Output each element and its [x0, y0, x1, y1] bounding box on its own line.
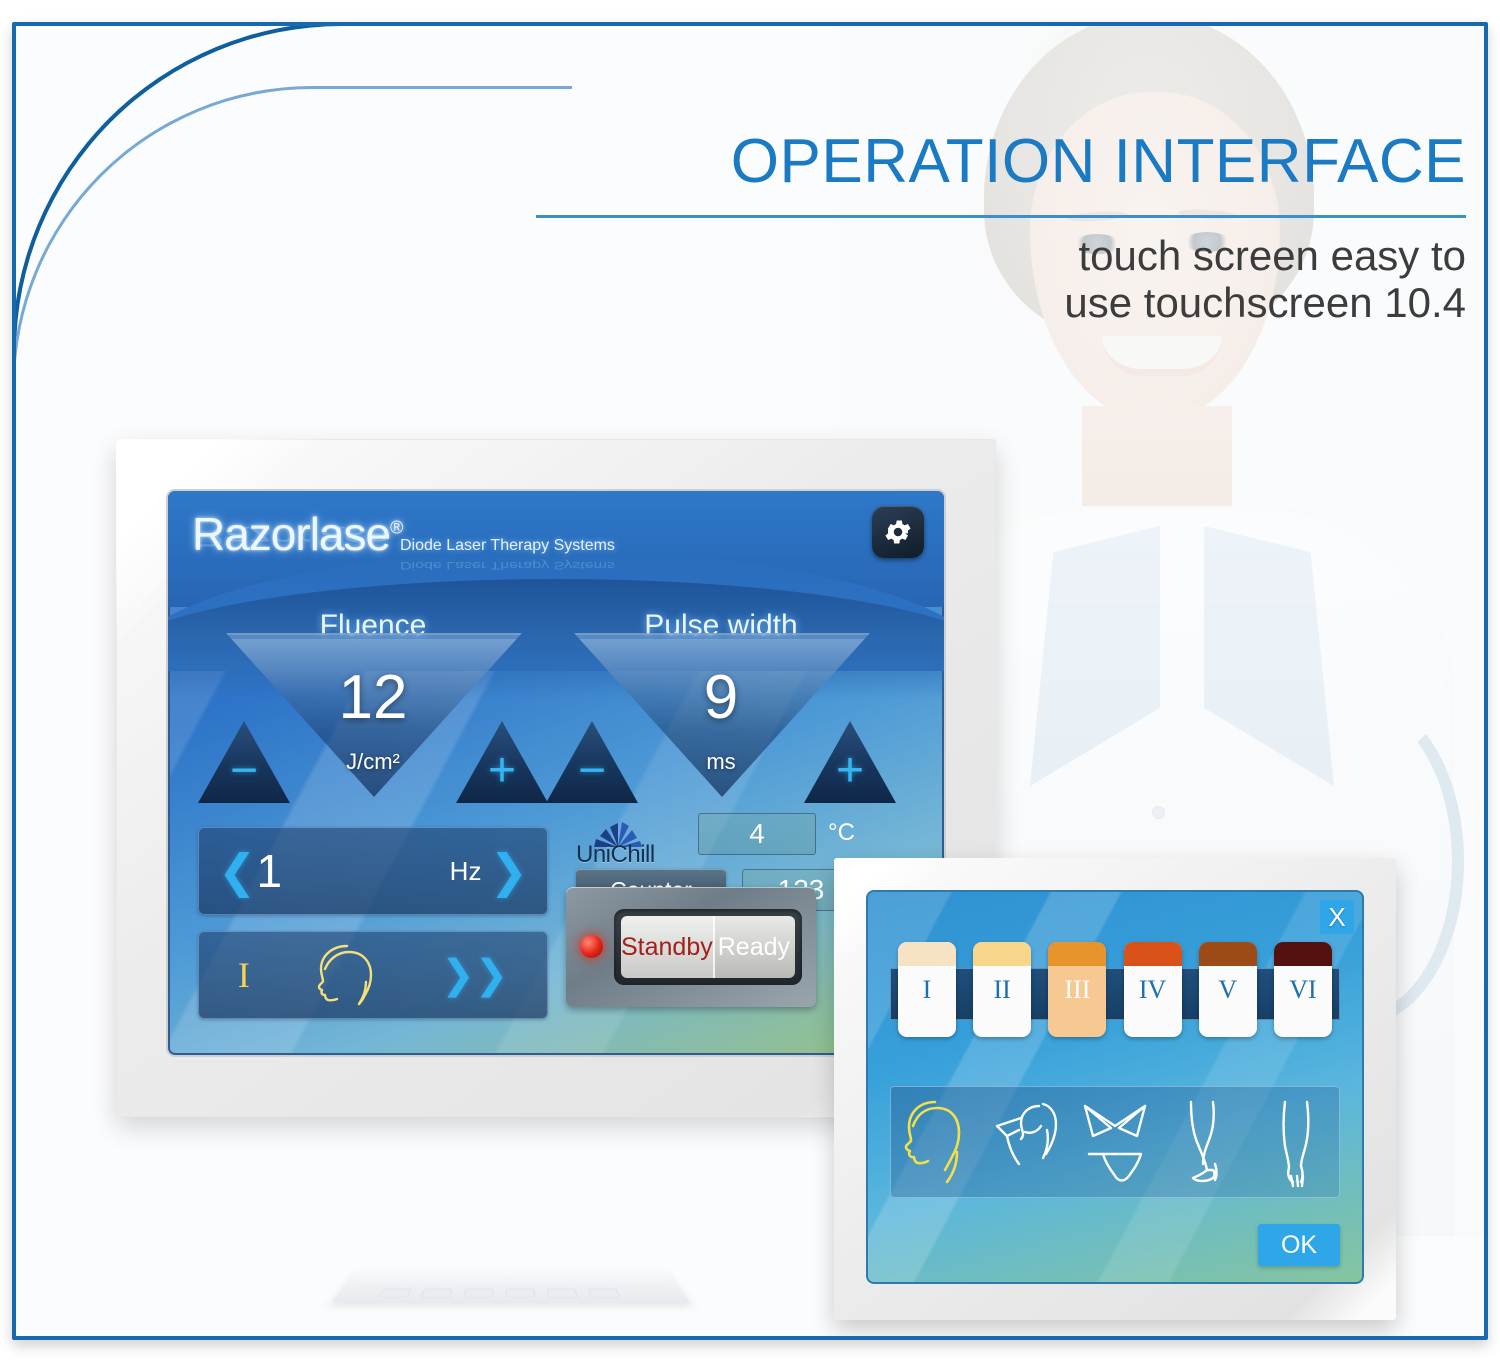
frequency-unit: Hz	[450, 856, 482, 887]
skin-type-swatch	[973, 942, 1031, 966]
frequency-control: ❮ 1 Hz ❯	[198, 827, 548, 915]
skin-type-label: II	[994, 975, 1011, 1005]
skin-type-tab[interactable]: IV	[1124, 942, 1182, 1037]
subtitle-line-2: use touchscreen 10.4	[536, 279, 1466, 326]
skin-type-selector: I II III IV V	[890, 942, 1340, 1042]
status-led	[580, 935, 603, 958]
subtitle-line-1: touch screen easy to	[536, 232, 1466, 279]
fluence-value: 12	[198, 667, 548, 729]
skin-type-swatch	[1124, 942, 1182, 966]
corner-curve-outer	[12, 22, 572, 352]
unichill-temperature-unit: °C	[828, 819, 855, 847]
page-subtitle: touch screen easy to use touchscreen 10.…	[536, 232, 1466, 326]
minus-icon: −	[578, 747, 606, 795]
header-block: OPERATION INTERFACE touch screen easy to…	[536, 131, 1466, 326]
skin-type-label: V	[1218, 975, 1237, 1005]
body-area-selector	[890, 1086, 1340, 1198]
keyboard-blur	[331, 1268, 690, 1303]
leg-icon[interactable]	[1165, 1096, 1245, 1188]
power-switch: Standby Ready	[566, 887, 816, 1007]
face-profile-icon	[301, 942, 389, 1008]
treatment-selector[interactable]: I ❯❯	[198, 931, 548, 1019]
frequency-prev-button[interactable]: ❮	[218, 848, 257, 894]
treatment-next-button[interactable]: ❯❯	[441, 955, 508, 995]
unichill-temperature-field[interactable]: 4	[698, 813, 816, 855]
page-root: OPERATION INTERFACE touch screen easy to…	[0, 0, 1500, 1362]
skin-type-tab[interactable]: VI	[1274, 942, 1332, 1037]
standby-button[interactable]: Standby	[621, 916, 713, 978]
brand-name: Razorlase	[192, 508, 390, 560]
skin-type-tab-selected[interactable]: III	[1048, 942, 1106, 1037]
selected-skin-type: I	[238, 954, 250, 996]
plus-icon: +	[488, 747, 516, 795]
main-screen: Razorlase Diode Laser Therapy Systems Ra…	[168, 491, 944, 1055]
decorative-frame: OPERATION INTERFACE touch screen easy to…	[12, 22, 1488, 1340]
ready-button[interactable]: Ready	[713, 916, 795, 978]
minus-icon: −	[230, 747, 258, 795]
pulse-width-group: Pulse width 9 ms − +	[546, 609, 896, 814]
plus-icon: +	[836, 747, 864, 795]
standby-ready-rocker: Standby Ready	[614, 909, 802, 985]
unichill-brand: UniChill	[576, 841, 655, 869]
skin-type-swatch	[898, 942, 956, 966]
frequency-value: 1	[257, 848, 283, 894]
arm-icon[interactable]	[1255, 1096, 1335, 1188]
skin-type-swatch	[1199, 942, 1257, 966]
title-underline	[536, 215, 1466, 218]
skin-type-label: IV	[1139, 975, 1166, 1005]
treatment-dialog: X I II III IV	[866, 890, 1364, 1284]
skin-type-tab[interactable]: V	[1199, 942, 1257, 1037]
settings-button[interactable]	[872, 506, 924, 558]
bikini-icon[interactable]	[1075, 1096, 1155, 1188]
corner-curve-inner	[12, 86, 572, 386]
skin-type-label: I	[923, 975, 932, 1005]
skin-type-swatch	[1274, 942, 1332, 966]
registered-mark: ®	[390, 518, 402, 538]
fluence-group: Fluence 12 J/cm² − +	[198, 609, 548, 814]
ok-button[interactable]: OK	[1258, 1224, 1340, 1266]
brand-tagline: Diode Laser Therapy Systems	[400, 537, 615, 555]
page-title: OPERATION INTERFACE	[536, 131, 1466, 193]
gear-icon	[882, 516, 914, 548]
skin-type-label: VI	[1289, 975, 1316, 1005]
underarm-icon[interactable]	[985, 1096, 1065, 1188]
skin-type-swatch	[1048, 942, 1106, 966]
dialog-monitor: X I II III IV	[834, 858, 1396, 1320]
skin-type-label: III	[1064, 975, 1090, 1005]
face-icon[interactable]	[895, 1096, 975, 1188]
dialog-close-button[interactable]: X	[1320, 900, 1354, 934]
pulse-width-value: 9	[546, 667, 896, 729]
brand-logo: Razorlase®	[192, 507, 402, 561]
skin-type-tab[interactable]: II	[973, 942, 1031, 1037]
skin-type-tab[interactable]: I	[898, 942, 956, 1037]
brand-tagline-reflection: Diode Laser Therapy Systems	[400, 558, 615, 571]
frequency-next-button[interactable]: ❯	[489, 848, 528, 894]
